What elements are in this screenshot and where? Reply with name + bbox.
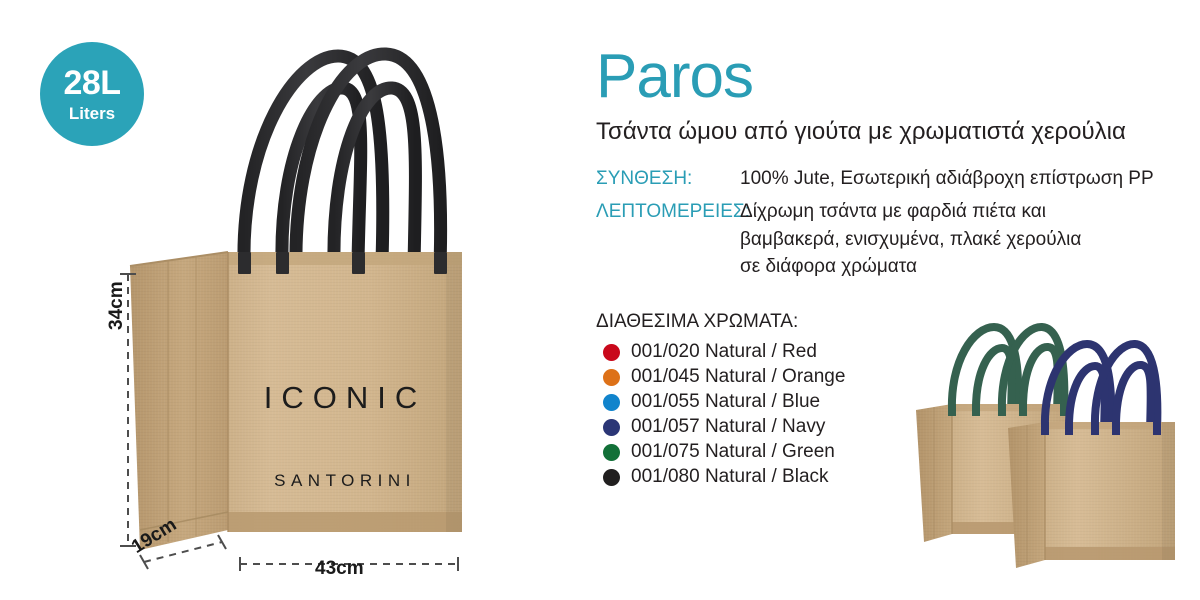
spec-value-details-line-3: σε διάφορα χρώματα: [740, 253, 1081, 281]
color-swatch-blue: [603, 394, 620, 411]
thumbnail-bags-svg: [890, 312, 1200, 600]
color-label-black: 001/080 Natural / Black: [631, 466, 829, 488]
product-subtitle: Τσάντα ώμου από γιούτα με χρωματιστά χερ…: [596, 118, 1186, 147]
spec-row-details: ΛΕΠΤΟΜΕΡΕΙΕΣ: Δίχρωμη τσάντα με φαρδιά π…: [596, 198, 1186, 281]
bag-print-iconic: ICONIC: [264, 380, 427, 415]
bag-print-santorini: SANTORINI: [274, 471, 416, 490]
spec-table: ΣΥΝΘΕΣΗ: 100% Jute, Εσωτερική αδιάβροχη …: [596, 165, 1186, 281]
spec-value-details-line-1: Δίχρωμη τσάντα με φαρδιά πιέτα και: [740, 198, 1081, 226]
color-swatch-black: [603, 469, 620, 486]
product-title: Paros: [596, 46, 1186, 108]
bag-bottom-hem: [228, 512, 462, 532]
volume-badge-unit: Liters: [69, 105, 115, 122]
color-label-blue: 001/055 Natural / Blue: [631, 391, 820, 413]
color-label-navy: 001/057 Natural / Navy: [631, 416, 825, 438]
spec-row-composition: ΣΥΝΘΕΣΗ: 100% Jute, Εσωτερική αδιάβροχη …: [596, 165, 1186, 193]
color-label-orange: 001/045 Natural / Orange: [631, 366, 845, 388]
thumbnail-bag-navy: [1008, 344, 1175, 568]
color-swatch-green: [603, 444, 620, 461]
color-swatch-red: [603, 344, 620, 361]
spec-value-details-line-2: βαμβακερά, ενισχυμένα, πλακέ χερούλια: [740, 226, 1081, 254]
spec-value-composition: 100% Jute, Εσωτερική αδιάβροχη επίστρωση…: [740, 165, 1154, 193]
jute-bag-main-image: ICONIC SANTORINI: [110, 30, 530, 590]
spec-value-composition-line-1: 100% Jute, Εσωτερική αδιάβροχη επίστρωση…: [740, 165, 1154, 193]
color-label-red: 001/020 Natural / Red: [631, 341, 817, 363]
spec-label-details: ΛΕΠΤΟΜΕΡΕΙΕΣ:: [596, 198, 740, 226]
color-label-green: 001/075 Natural / Green: [631, 441, 835, 463]
product-illustration: ICONIC SANTORINI 34cm 43cm 19cm: [110, 30, 530, 590]
color-swatch-orange: [603, 369, 620, 386]
dimension-height-label: 34cm: [106, 281, 128, 330]
spec-label-composition: ΣΥΝΘΕΣΗ:: [596, 165, 740, 193]
spec-value-details: Δίχρωμη τσάντα με φαρδιά πιέτα και βαμβα…: [740, 198, 1081, 281]
color-swatch-navy: [603, 419, 620, 436]
product-catalog-page: 28L Liters: [0, 0, 1200, 600]
dimension-width-label: 43cm: [315, 558, 364, 580]
colorway-thumbnails: [890, 312, 1200, 600]
